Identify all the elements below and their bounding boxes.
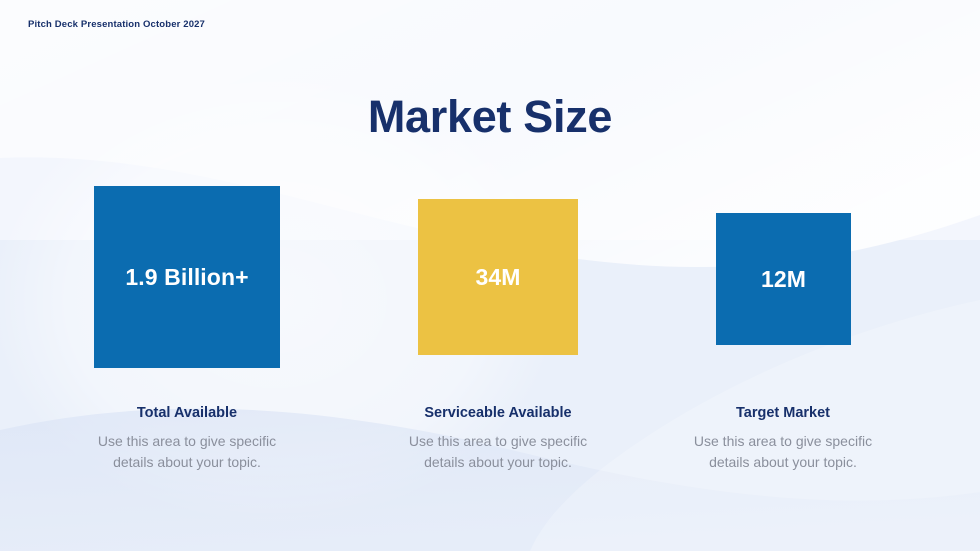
- caption-body-total-available: Use this area to give specific details a…: [52, 431, 322, 472]
- slide-kicker-label: Pitch Deck Presentation October 2027: [28, 19, 205, 30]
- stat-value: 1.9 Billion+: [125, 266, 248, 289]
- caption-body-line: Use this area to give specific: [363, 431, 633, 452]
- stat-box-serviceable-available: 34M: [418, 199, 578, 355]
- stat-box-total-available: 1.9 Billion+: [94, 186, 280, 368]
- caption-heading-serviceable-available: Serviceable Available: [355, 404, 641, 422]
- caption-body-line: Use this area to give specific: [52, 431, 322, 452]
- caption-body-serviceable-available: Use this area to give specific details a…: [363, 431, 633, 472]
- caption-body-line: Use this area to give specific: [648, 431, 918, 452]
- page-title: Market Size: [0, 89, 980, 145]
- caption-body-target-market: Use this area to give specific details a…: [648, 431, 918, 472]
- caption-heading-target-market: Target Market: [640, 404, 926, 422]
- stat-value: 12M: [761, 268, 806, 291]
- background-wave-bottom: [0, 409, 980, 551]
- caption-body-line: details about your topic.: [52, 452, 322, 473]
- caption-body-line: details about your topic.: [363, 452, 633, 473]
- stat-value: 34M: [475, 266, 520, 289]
- stat-box-target-market: 12M: [716, 213, 851, 345]
- caption-body-line: details about your topic.: [648, 452, 918, 473]
- caption-heading-total-available: Total Available: [44, 404, 330, 422]
- presentation-slide: Pitch Deck Presentation October 2027 Mar…: [0, 0, 980, 551]
